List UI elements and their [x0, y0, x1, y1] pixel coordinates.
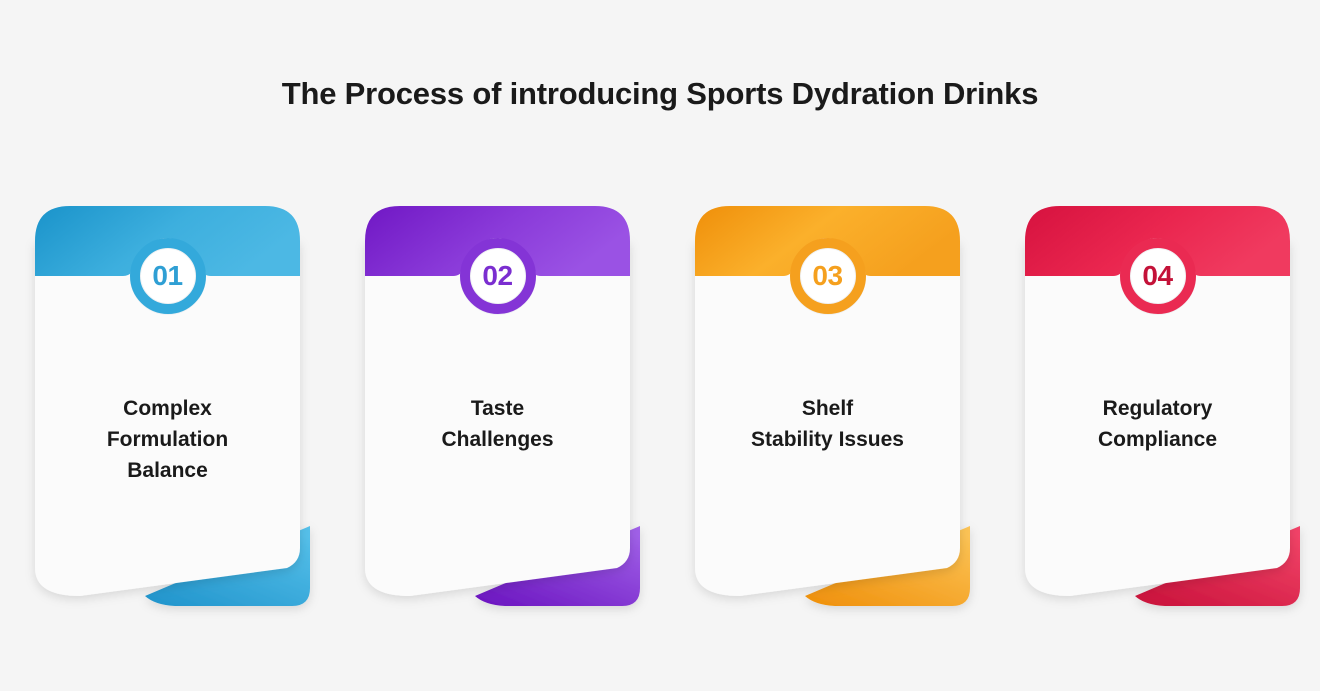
card-label-3: Shelf Stability Issues	[685, 394, 970, 456]
card-number-3: 03	[786, 234, 870, 318]
process-card-4[interactable]: 04 Regulatory Compliance	[1015, 196, 1300, 621]
infographic-page: The Process of introducing Sports Dydrat…	[0, 0, 1320, 691]
card-number-2: 02	[456, 234, 540, 318]
card-number-4: 04	[1116, 234, 1200, 318]
card-number-1: 01	[126, 234, 210, 318]
card-label-2: Taste Challenges	[355, 394, 640, 456]
card-label-4: Regulatory Compliance	[1015, 394, 1300, 456]
process-card-3[interactable]: 03 Shelf Stability Issues	[685, 196, 970, 621]
process-card-1[interactable]: 01 Complex Formulation Balance	[25, 196, 310, 621]
cards-row: 01 Complex Formulation Balance	[0, 196, 1320, 626]
card-badge-4: 04	[1116, 234, 1200, 318]
card-badge-1: 01	[126, 234, 210, 318]
page-title: The Process of introducing Sports Dydrat…	[0, 76, 1320, 112]
process-card-2[interactable]: 02 Taste Challenges	[355, 196, 640, 621]
card-badge-2: 02	[456, 234, 540, 318]
card-label-1: Complex Formulation Balance	[25, 394, 310, 487]
card-badge-3: 03	[786, 234, 870, 318]
